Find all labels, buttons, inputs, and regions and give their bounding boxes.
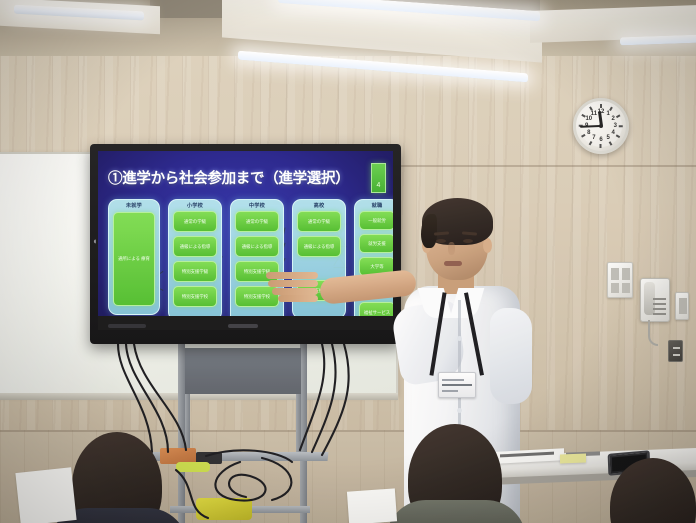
presenter-sideburn	[421, 214, 437, 248]
presenter-nose	[448, 242, 455, 255]
column-header: 小学校	[169, 202, 221, 209]
display-button-strip[interactable]	[108, 324, 146, 328]
display-logo	[228, 324, 258, 328]
sticky-note	[560, 454, 586, 464]
diagram-column-1: 小学校 通常の学級 通級による指導 特別支援学級 特別支援学校	[168, 199, 222, 321]
handout-paper	[347, 488, 397, 523]
interactive-display[interactable]: ①進学から社会参加まで（進学選択） 4	[90, 144, 401, 344]
diagram-node: 通所による 療育	[113, 212, 155, 306]
diagram-node: 通級による指導	[173, 236, 217, 257]
diagram-node: 通級による指導	[297, 236, 341, 257]
diagram-column-0: 未就学 通所による 療育	[108, 199, 160, 315]
diagram-node: 通常の学級	[297, 211, 341, 232]
handout-paper	[15, 467, 76, 523]
diagram-node: 特別支援学級	[173, 261, 217, 282]
id-badge	[438, 372, 476, 398]
slide-diagram: 未就学 通所による 療育 小学校 通常の学級 通級による指導 特別支援学級 特別…	[106, 199, 387, 326]
diagram-column-2: 中学校 通常の学級 通級による指導 特別支援学級 特別支援学校	[230, 199, 284, 325]
presenter-hand	[266, 268, 328, 306]
classroom-photo: 12 1 2 3 4 5 6 7 8 9 10 11	[0, 0, 696, 523]
slide-page-badge: 4	[371, 163, 386, 193]
presenter-ear	[483, 238, 492, 253]
column-header: 中学校	[231, 202, 283, 209]
diagram-node: 特別支援学校	[173, 286, 217, 307]
column-header: 高校	[293, 202, 345, 209]
diagram-node: 通級による指導	[235, 236, 279, 257]
slide-title: ①進学から社会参加まで（進学選択）	[108, 167, 358, 188]
column-header: 未就学	[109, 202, 159, 209]
display-screen[interactable]: ①進学から社会参加まで（進学選択） 4	[98, 151, 393, 330]
diagram-node: 通常の学級	[173, 211, 217, 232]
presenter-mouth	[444, 261, 462, 266]
diagram-node: 通常の学級	[235, 211, 279, 232]
display-side-sensor: ◖	[92, 236, 98, 250]
presenter-right-sleeve	[490, 308, 532, 404]
